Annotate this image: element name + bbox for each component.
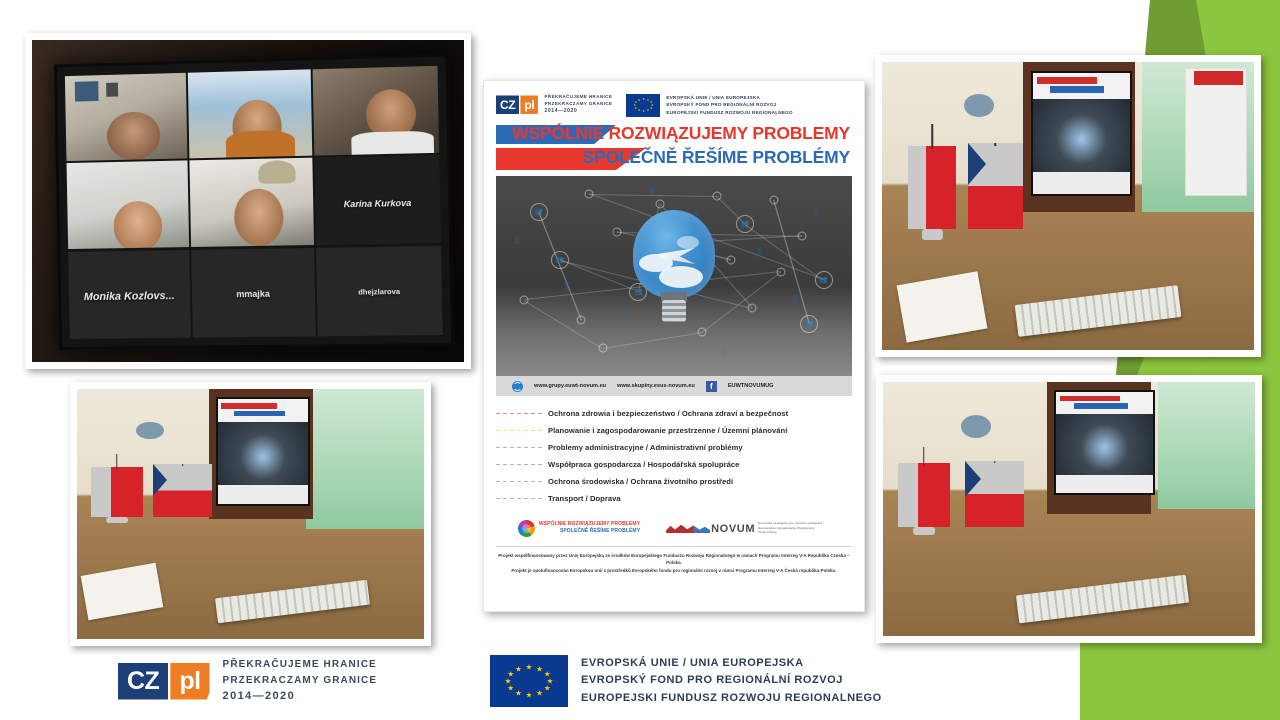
footer-eu-line3: EUROPEJSKI FUNDUSZ ROZWOJU REGIONALNEGO [581,690,882,707]
pl-block: pl [170,663,209,700]
poster-footer: WSPÓLNIE ROZWIĄZUJEMY PROBLEMY SPOLEČNĚ … [496,514,852,574]
czpl-mark: CZ pl [118,663,210,700]
czpl-tagline: PŘEKRAČUJEME HRANICE PRZEKRACZAMY GRANIC… [223,657,378,705]
czpl-program-logo: CZ pl PŘEKRAČUJEME HRANICE PRZEKRACZAMY … [496,94,612,116]
disclaimer-czech: Projekt je spolufinancován Evropskou uni… [496,567,852,574]
project-logo: WSPÓLNIE ROZWIĄZUJEMY PROBLEMY SPOLEČNĚ … [518,520,640,537]
video-tile [66,161,189,249]
photo-inner [883,382,1255,636]
footer-czpl-line2: PRZEKRACZAMY GRANICE [223,673,378,689]
divider [496,546,852,547]
flag-czechia [968,143,1024,229]
poster-headline: WSPÓLNIE ROZWIĄZUJEMY PROBLEMY SPOLEČNĚ … [496,123,852,175]
topic-label: Współpraca gospodarcza / Hospodářská spo… [548,460,739,469]
dash-line [496,481,542,482]
eu-logo: ★★★★★★★★★★★★ EVROPSKÁ UNIE / UNIA EUROPE… [626,94,792,117]
eu-star: ★ [635,101,637,103]
person-silhouette-icon: 👤 [790,296,800,304]
person-silhouette-icon: 👤 [512,236,522,244]
topic-label: Problemy administracyjne / Administrativ… [548,443,743,452]
topic-row: Ochrona zdrowia i bezpieczeństwo / Ochra… [496,405,852,422]
eu-star: ★ [515,690,522,697]
network-node [655,200,664,209]
network-node [798,232,807,241]
dash-line [496,413,542,414]
novum-wordmark: NOVUM [711,523,755,535]
video-tile [64,73,187,162]
czpl-years: 2014—2020 [544,108,612,116]
novum-logo: NOVUM Evropské seskupení pro územní spol… [666,521,830,535]
footer-czpl-line1: PŘEKRAČUJEME HRANICE [223,657,378,673]
project-logo-line1: WSPÓLNIE ROZWIĄZUJEMY PROBLEMY [539,521,640,528]
network-link [603,332,703,349]
url-polish[interactable]: www.grupy.euwt-novum.eu [534,383,606,389]
facebook-handle: EUWTNOVUMUG [728,383,774,389]
flag-poland [91,467,143,517]
video-tile [187,69,312,159]
lightbulb-icon [633,210,715,322]
eu-star: ★ [650,107,652,109]
eu-tagline: EVROPSKÁ UNIE / UNIA EUROPEJSKA EVROPSKÝ… [666,94,792,115]
novum-mountain-icon [666,521,708,535]
participant-name-dhejzlarova: dhejzlarova [316,287,441,298]
video-tile [189,158,314,247]
eu-star: ★ [633,104,635,106]
eu-star: ★ [505,678,512,685]
globe-icon [512,381,523,392]
wall-display [216,397,310,506]
czpl-tagline: PŘEKRAČUJEME HRANICE PRZEKRACZAMY GRANIC… [544,94,612,116]
flag-poland [898,463,950,527]
photo-projection-screen: Karina Kurkova Monika Kozlovs... mmajka … [25,33,471,369]
photo-inner: Karina Kurkova Monika Kozlovs... mmajka … [32,40,464,362]
photo-laptop-bottom-left [70,382,431,646]
person-silhouette-icon: 👤 [648,188,658,196]
name-box: dhejzlarova [316,246,443,336]
people-circle-icon [518,520,535,537]
footer-eu-tagline: EVROPSKÁ UNIE / UNIA EUROPEJSKA EVROPSKÝ… [581,655,882,706]
footer-czpl-years: 2014—2020 [223,688,378,705]
dash-line [496,447,542,448]
people-node-icon: 👥 [534,209,543,216]
eu-star: ★ [638,99,640,101]
projection-screen: Karina Kurkova Monika Kozlovs... mmajka … [54,54,454,351]
poster-topic-list: Ochrona zdrowia i bezpieczeństwo / Ochra… [496,405,852,507]
flag-czechia [965,461,1025,527]
poster-logo-row: CZ pl PŘEKRAČUJEME HRANICE PRZEKRACZAMY … [496,90,852,120]
wall-display [1031,71,1132,196]
network-node [613,228,622,237]
name-box: Monika Kozlovs... [68,250,191,339]
flag-czechia [153,464,212,517]
poster-contact-bar: www.grupy.euwt-novum.eu www.skupiny.esus… [496,376,852,396]
network-node [748,304,757,313]
topic-row: Współpraca gospodarcza / Hospodářská spo… [496,456,852,473]
person-silhouette-icon: 👤 [719,348,729,356]
pl-block: pl [520,95,538,114]
eu-star: ★ [638,109,640,111]
eu-star: ★ [507,685,514,692]
cz-block: CZ [496,95,519,114]
participant-name-karina: Karina Kurkova [315,198,440,210]
video-tile-named: Karina Kurkova [314,155,441,245]
eu-star: ★ [647,99,649,101]
eu-star: ★ [642,110,644,112]
czpl-line1: PŘEKRAČUJEME HRANICE [544,94,612,101]
topic-row: Planowanie i zagospodarowanie przestrzen… [496,422,852,439]
poster-illustration: 👥👥👥👥👥👥👥👤👤👤👤👤👤👤👤👤 [496,176,852,376]
topic-label: Transport / Doprava [548,494,621,503]
poster-footer-logos: WSPÓLNIE ROZWIĄZUJEMY PROBLEMY SPOLEČNĚ … [496,514,852,542]
photo-inner [882,62,1254,350]
eu-star: ★ [536,665,543,672]
eu-star: ★ [642,98,644,100]
eu-flag-icon: ★★★★★★★★★★★★ [490,655,568,707]
participant-name-bar: Monika Kozlovs... mmajka dhejzlarova [68,246,443,339]
eu-line2: EVROPSKÝ FOND PRO REGIONÁLNÍ ROZVOJ [666,101,792,108]
network-node [776,268,785,277]
novum-subtitle: Evropské seskupení pro územní spolupráci… [758,521,830,535]
photo-laptop-top-right [875,55,1261,357]
participant-name-mmajka: mmajka [191,289,314,301]
network-node [520,296,529,305]
person-silhouette-icon: 👤 [619,312,629,320]
czpl-mark: CZ pl [496,95,538,114]
network-node [584,190,593,199]
project-poster: CZ pl PŘEKRAČUJEME HRANICE PRZEKRACZAMY … [483,80,865,612]
photo-laptop-bottom-right [876,375,1262,643]
footer-eu-line2: EVROPSKÝ FOND PRO REGIONÁLNÍ ROZVOJ [581,672,882,689]
eu-star: ★ [515,665,522,672]
topic-label: Ochrona środowiska / Ochrana životního p… [548,477,733,486]
eu-line1: EVROPSKÁ UNIE / UNIA EUROPEJSKA [666,94,792,101]
disclaimer-polish: Projekt współfinansowany przez Unię Euro… [496,552,852,567]
people-node-icon: 👥 [556,257,565,264]
network-node [769,196,778,205]
network-link [524,300,603,349]
person-silhouette-icon: 👤 [562,282,572,290]
name-box: mmajka [191,248,316,337]
video-grid: Karina Kurkova [64,66,440,250]
eu-star: ★ [536,690,543,697]
topic-row: Ochrona środowiska / Ochrana životního p… [496,473,852,490]
participant-name-monika: Monika Kozlovs... [68,291,189,305]
topic-label: Planowanie i zagospodarowanie przestrzen… [548,426,787,435]
facebook-icon[interactable]: f [706,381,717,392]
eu-star: ★ [526,692,533,699]
eu-star: ★ [544,685,551,692]
video-tile [312,66,439,157]
network-node [577,316,586,325]
dash-line [496,430,542,431]
flag-poland [908,146,956,230]
people-node-icon: 👥 [741,221,750,228]
photo-inner [77,389,424,639]
eu-flag-icon: ★★★★★★★★★★★★ [626,94,660,117]
network-node [598,344,607,353]
cz-block: CZ [118,663,168,700]
eu-star: ★ [647,109,649,111]
url-czech[interactable]: www.skupiny.esus-novum.eu [617,383,695,389]
people-node-icon: 👥 [819,277,828,284]
network-node [726,256,735,265]
eu-star: ★ [526,663,533,670]
network-node [698,328,707,337]
topic-row: Transport / Doprava [496,490,852,507]
eu-line3: EUROPEJSKI FUNDUSZ ROZWOJU REGIONALNEGO [666,109,792,116]
dash-line [496,498,542,499]
footer-eu-line1: EVROPSKÁ UNIE / UNIA EUROPEJSKA [581,655,882,672]
network-node [712,192,721,201]
person-silhouette-icon: 👤 [811,208,821,216]
footer-czpl-logo: CZ pl PŘEKRAČUJEME HRANICE PRZEKRACZAMY … [118,657,377,705]
czpl-line2: PRZEKRACZAMY GRANICE [544,101,612,108]
wall-display [1054,390,1155,496]
eu-star: ★ [507,670,514,677]
headline-czech: SPOLEČNĚ ŘEŠÍME PROBLÉMY [583,147,850,168]
presentation-slide: Karina Kurkova Monika Kozlovs... mmajka … [0,0,1280,720]
topic-row: Problemy administracyjne / Administrativ… [496,439,852,456]
topic-label: Ochrona zdrowia i bezpieczeństwo / Ochra… [548,409,788,418]
project-logo-line2: SPOLEČNĚ ŘEŠÍME PROBLÉMY [539,528,640,535]
eu-star: ★ [635,107,637,109]
dash-line [496,464,542,465]
person-silhouette-icon: 👤 [754,248,764,256]
footer-eu-logo: ★★★★★★★★★★★★ EVROPSKÁ UNIE / UNIA EUROPE… [490,655,882,707]
people-node-icon: 👥 [805,321,814,328]
headline-polish: WSPÓLNIE ROZWIĄZUJEMY PROBLEMY [512,123,850,144]
